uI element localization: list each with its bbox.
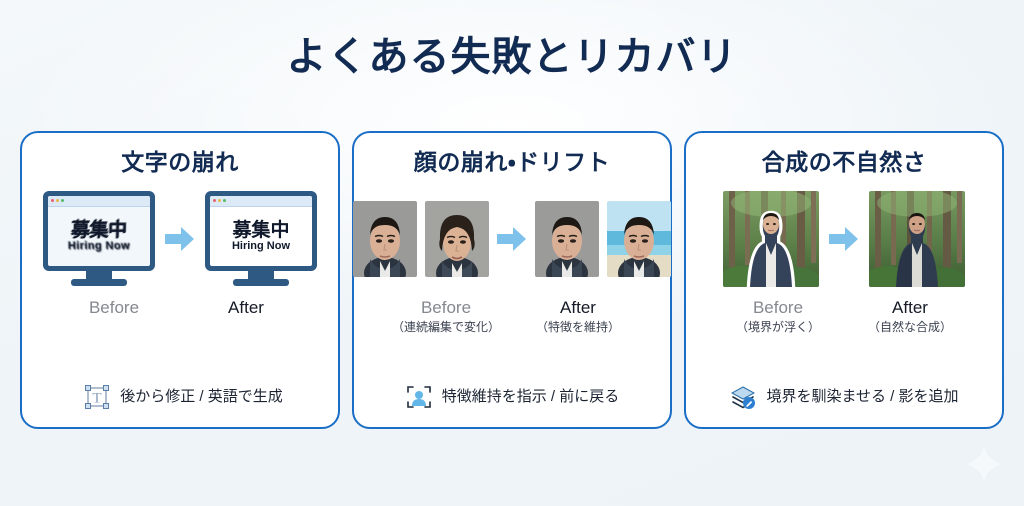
before-after-visual: 募集中 Hiring Now xyxy=(43,191,317,287)
after-column: After xyxy=(180,297,312,318)
before-after-labels: Before （連続編集で変化） After （特徴を維持） xyxy=(354,297,670,335)
before-after-labels: Before （境界が浮く） After （自然な合成） xyxy=(686,297,1002,335)
card-text-corruption[interactable]: 文字の崩れ 募集中 Hiring Now xyxy=(20,131,340,429)
before-column: Before （境界が浮く） xyxy=(712,297,844,335)
screen-text-jp: 募集中 xyxy=(232,221,289,240)
monitor-content: 募集中 Hiring Now xyxy=(210,207,312,266)
before-after-visual xyxy=(353,191,671,287)
before-sublabel: （連続編集で変化） xyxy=(380,319,512,335)
card-face-drift[interactable]: 顔の崩れ・ドリフト xyxy=(352,131,672,429)
monitor-content: 募集中 Hiring Now xyxy=(48,207,150,266)
card-title: 文字の崩れ xyxy=(121,149,239,177)
tip-text: 特徴維持を指示 / 前に戻る xyxy=(442,388,620,406)
before-label: Before xyxy=(48,297,180,318)
browser-titlebar xyxy=(48,196,150,207)
sparkle-watermark-icon xyxy=(964,444,1004,484)
window-maximize-dot xyxy=(223,199,226,202)
window-close-dot xyxy=(213,199,216,202)
right-arrow-icon xyxy=(829,226,859,252)
monitor-after: 募集中 Hiring Now xyxy=(205,191,317,287)
window-minimize-dot xyxy=(218,199,221,202)
right-arrow-icon xyxy=(165,226,195,252)
monitor-screen: 募集中 Hiring Now xyxy=(48,196,150,266)
after-column: After （自然な合成） xyxy=(844,297,976,335)
right-arrow-icon xyxy=(497,226,527,252)
before-label: Before xyxy=(380,297,512,318)
screen-text-en: Hiring Now xyxy=(232,241,290,252)
monitor-stand xyxy=(71,279,127,286)
face-focus-icon xyxy=(405,383,433,411)
tip-text: 後から修正 / 英語で生成 xyxy=(120,388,283,406)
face-photo-after-1 xyxy=(535,201,599,277)
tip-text: 境界を馴染ませる / 影を追加 xyxy=(766,388,958,406)
before-label: Before xyxy=(712,297,844,318)
monitor-neck xyxy=(86,271,112,279)
before-column: Before （連続編集で変化） xyxy=(380,297,512,335)
after-sublabel: （自然な合成） xyxy=(844,319,976,335)
cards-row: 文字の崩れ 募集中 Hiring Now xyxy=(20,131,1004,429)
before-sublabel: （境界が浮く） xyxy=(712,319,844,335)
svg-text:T: T xyxy=(93,391,102,407)
monitor-screen: 募集中 Hiring Now xyxy=(210,196,312,266)
browser-titlebar xyxy=(210,196,312,207)
screen-text-en: Hiring Now xyxy=(68,241,130,252)
face-photo-after-2 xyxy=(607,201,671,277)
face-photo-before-1 xyxy=(353,201,417,277)
window-close-dot xyxy=(51,199,54,202)
text-box-icon: T xyxy=(83,383,111,411)
card-title: 顔の崩れ・ドリフト xyxy=(414,149,610,177)
monitor-before: 募集中 Hiring Now xyxy=(43,191,155,287)
face-photo-before-2 xyxy=(425,201,489,277)
before-after-labels: Before After xyxy=(22,297,338,318)
after-column: After （特徴を維持） xyxy=(512,297,644,335)
monitor-stand xyxy=(233,279,289,286)
tip-row: T 後から修正 / 英語で生成 xyxy=(22,383,338,411)
before-column: Before xyxy=(48,297,180,318)
monitor-neck xyxy=(248,271,274,279)
after-label: After xyxy=(512,297,644,318)
after-sublabel: （特徴を維持） xyxy=(512,319,644,335)
composite-after-image xyxy=(869,191,965,287)
card-composite-unnatural[interactable]: 合成の不自然さ xyxy=(684,131,1004,429)
tip-row: 特徴維持を指示 / 前に戻る xyxy=(354,383,670,411)
layers-edit-icon xyxy=(729,383,757,411)
screen-text-jp: 募集中 xyxy=(71,221,127,240)
window-minimize-dot xyxy=(56,199,59,202)
card-title: 合成の不自然さ xyxy=(762,149,927,177)
page-title: よくある失敗とリカバリ xyxy=(0,24,1024,82)
window-maximize-dot xyxy=(61,199,64,202)
after-label: After xyxy=(180,297,312,318)
before-after-visual xyxy=(723,191,965,287)
monitor-bezel: 募集中 Hiring Now xyxy=(43,191,155,271)
monitor-bezel: 募集中 Hiring Now xyxy=(205,191,317,271)
tip-row: 境界を馴染ませる / 影を追加 xyxy=(686,383,1002,411)
after-label: After xyxy=(844,297,976,318)
composite-before-image xyxy=(723,191,819,287)
